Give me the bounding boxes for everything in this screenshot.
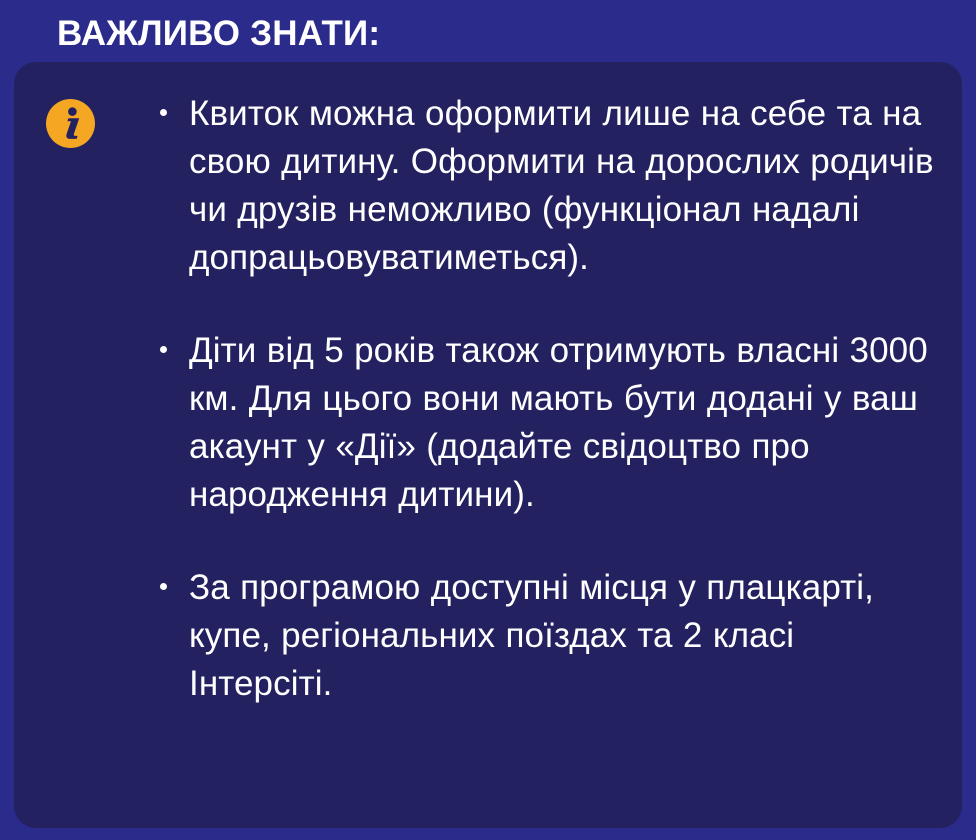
bullet-text: Діти від 5 років також отримують власні … <box>189 327 944 519</box>
list-item: Діти від 5 років також отримують власні … <box>146 327 944 519</box>
info-icon <box>46 99 95 148</box>
bullet-dot-icon <box>160 346 167 353</box>
page-title: ВАЖЛИВО ЗНАТИ: <box>57 14 380 54</box>
notice-page: ВАЖЛИВО ЗНАТИ: Квиток можна оформити лиш… <box>0 0 976 840</box>
notice-bullet-list: Квиток можна оформити лише на себе та на… <box>146 90 944 708</box>
bullet-dot-icon <box>160 109 167 116</box>
important-info-card: Квиток можна оформити лише на себе та на… <box>14 62 962 828</box>
info-icon-svg <box>46 99 95 148</box>
card-inner: Квиток можна оформити лише на себе та на… <box>14 62 962 828</box>
list-item: За програмою доступні місця у плацкарті,… <box>146 564 944 708</box>
bullet-text: Квиток можна оформити лише на себе та на… <box>189 90 944 282</box>
bullet-dot-icon <box>160 583 167 590</box>
list-item: Квиток можна оформити лише на себе та на… <box>146 90 944 282</box>
bullet-text: За програмою доступні місця у плацкарті,… <box>189 564 944 708</box>
